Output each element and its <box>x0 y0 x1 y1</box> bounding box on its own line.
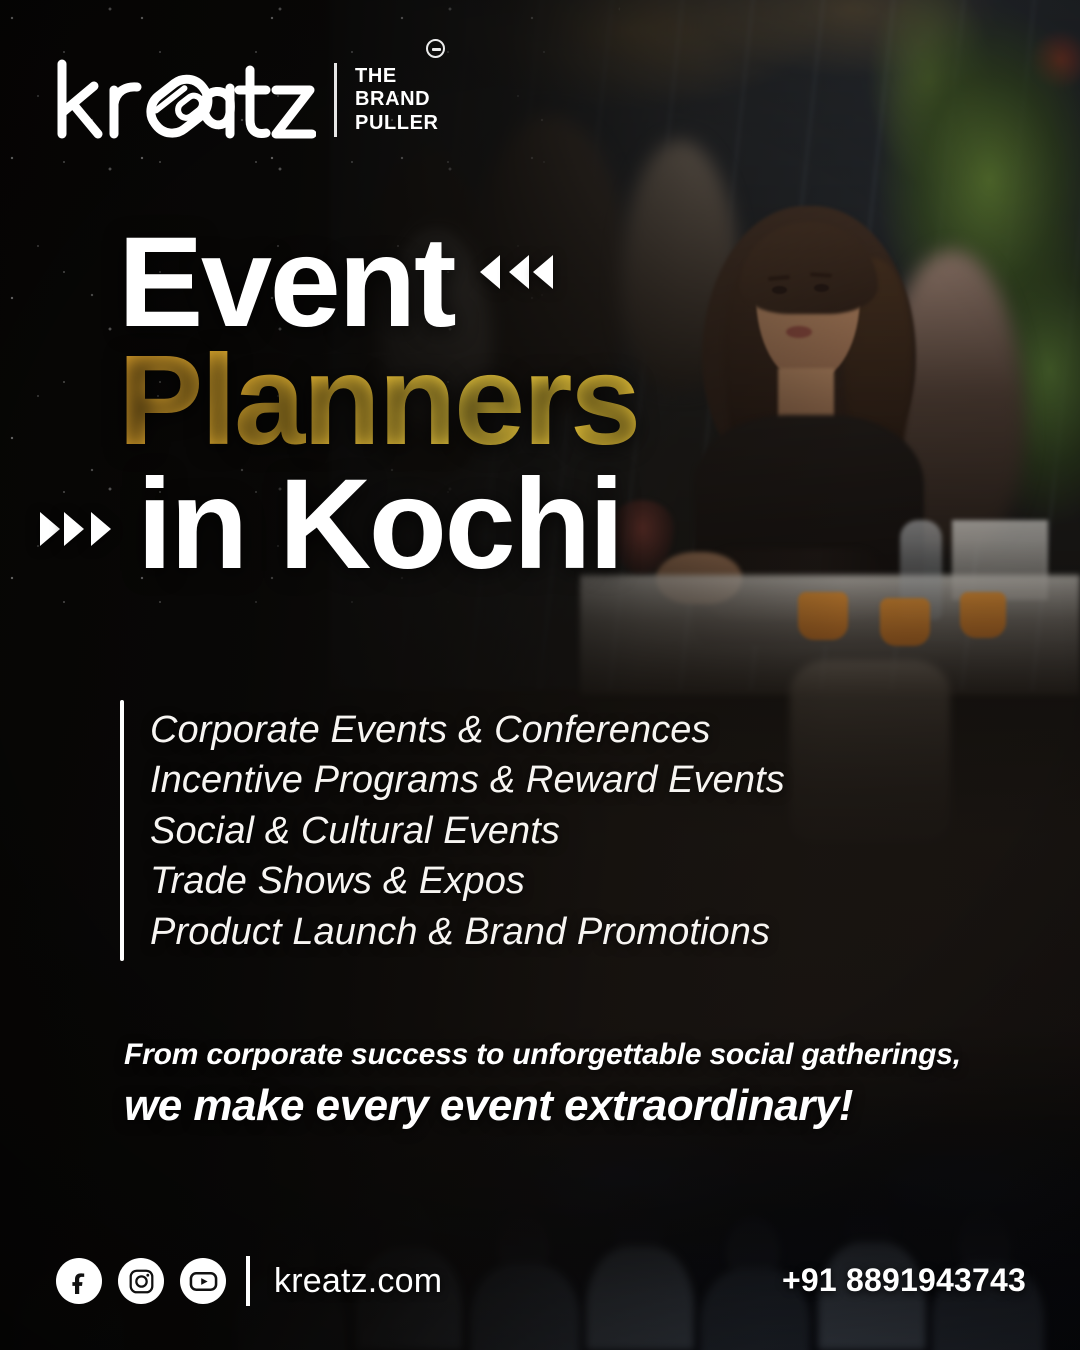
background-vignette <box>0 0 1080 1350</box>
triple-arrow-right-icon <box>40 512 111 546</box>
kreatz-wordmark-icon <box>54 58 316 142</box>
logo-divider <box>334 63 337 137</box>
logo-tagline-line-1: THE <box>355 65 439 88</box>
trademark-icon <box>426 39 445 58</box>
logo-tagline-line-2: BRAND <box>355 88 439 111</box>
triple-arrow-left-icon <box>480 255 553 289</box>
instagram-link[interactable] <box>118 1258 164 1304</box>
list-item: Incentive Programs & Reward Events <box>150 756 785 805</box>
brand-logo[interactable]: THE BRAND PULLER <box>54 58 443 142</box>
tagline-line-1: From corporate success to unforgettable … <box>124 1038 961 1072</box>
list-item: Product Launch & Brand Promotions <box>150 908 785 957</box>
youtube-link[interactable] <box>180 1258 226 1304</box>
phone-number[interactable]: +91 8891943743 <box>782 1262 1026 1299</box>
background-photo <box>0 0 1080 1350</box>
headline-block: Event Planners in Kochi <box>118 228 978 580</box>
list-item: Trade Shows & Expos <box>150 857 785 906</box>
footer: kreatz.com +91 8891943743 <box>0 1256 1080 1320</box>
headline-row-1: Event <box>118 228 978 338</box>
facebook-link[interactable] <box>56 1258 102 1304</box>
footer-left-group: kreatz.com <box>56 1256 442 1306</box>
services-accent-bar <box>120 700 124 961</box>
services-items: Corporate Events & Conferences Incentive… <box>150 700 785 961</box>
headline-row-2: Planners <box>118 346 978 456</box>
youtube-icon <box>189 1267 218 1296</box>
headline-line-2: Planners <box>118 346 639 456</box>
services-list: Corporate Events & Conferences Incentive… <box>120 700 785 961</box>
list-item: Corporate Events & Conferences <box>150 706 785 755</box>
website-link[interactable]: kreatz.com <box>274 1262 442 1301</box>
headline-line-1: Event <box>118 228 454 338</box>
logo-tagline-line-3: PULLER <box>355 112 439 135</box>
tagline-block: From corporate success to unforgettable … <box>124 1038 961 1131</box>
facebook-icon <box>66 1268 92 1294</box>
logo-tagline: THE BRAND PULLER <box>355 65 443 135</box>
instagram-icon <box>128 1268 155 1295</box>
headline-row-3: in Kochi <box>40 470 978 580</box>
list-item: Social & Cultural Events <box>150 807 785 856</box>
poster-root: THE BRAND PULLER Event Planners in Kochi… <box>0 0 1080 1350</box>
headline-line-3: in Kochi <box>137 470 622 580</box>
tagline-line-2: we make every event extraordinary! <box>124 1081 961 1131</box>
footer-divider <box>246 1256 250 1306</box>
